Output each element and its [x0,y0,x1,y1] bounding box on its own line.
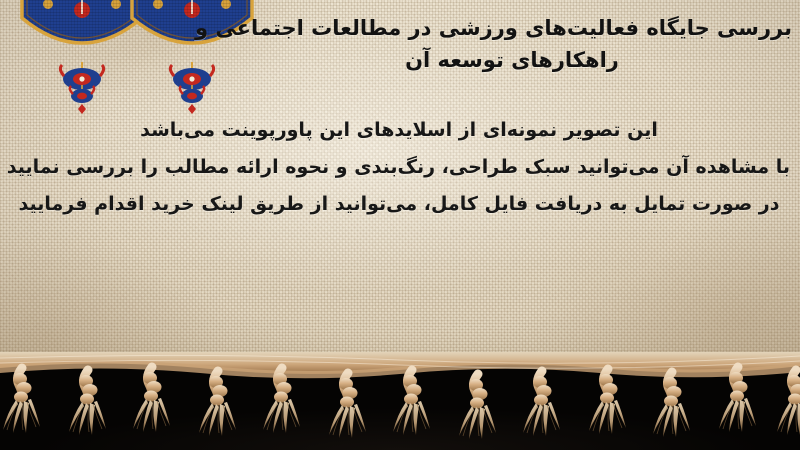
slide-title: بررسی جایگاه فعالیت‌های ورزشی در مطالعات… [232,12,792,76]
title-line-1: بررسی جایگاه فعالیت‌های ورزشی در مطالعات… [232,12,792,44]
title-line-2: راهکارهای توسعه آن [232,44,792,76]
body-line-3: در صورت تمایل به دریافت فایل کامل، می‌تو… [8,186,790,223]
slide-body: این تصویر نمونه‌ای از اسلایدهای این پاور… [8,112,790,223]
slide-canvas: بررسی جایگاه فعالیت‌های ورزشی در مطالعات… [0,0,800,450]
body-line-2: با مشاهده آن می‌توانید سبک طراحی، رنگ‌بن… [8,149,790,186]
body-line-1: این تصویر نمونه‌ای از اسلایدهای این پاور… [8,112,790,149]
carpet-fringe-tassels-icon [0,352,800,450]
fringe-svg [0,352,800,450]
carpet-medallion-pendant-left-icon [18,0,146,114]
